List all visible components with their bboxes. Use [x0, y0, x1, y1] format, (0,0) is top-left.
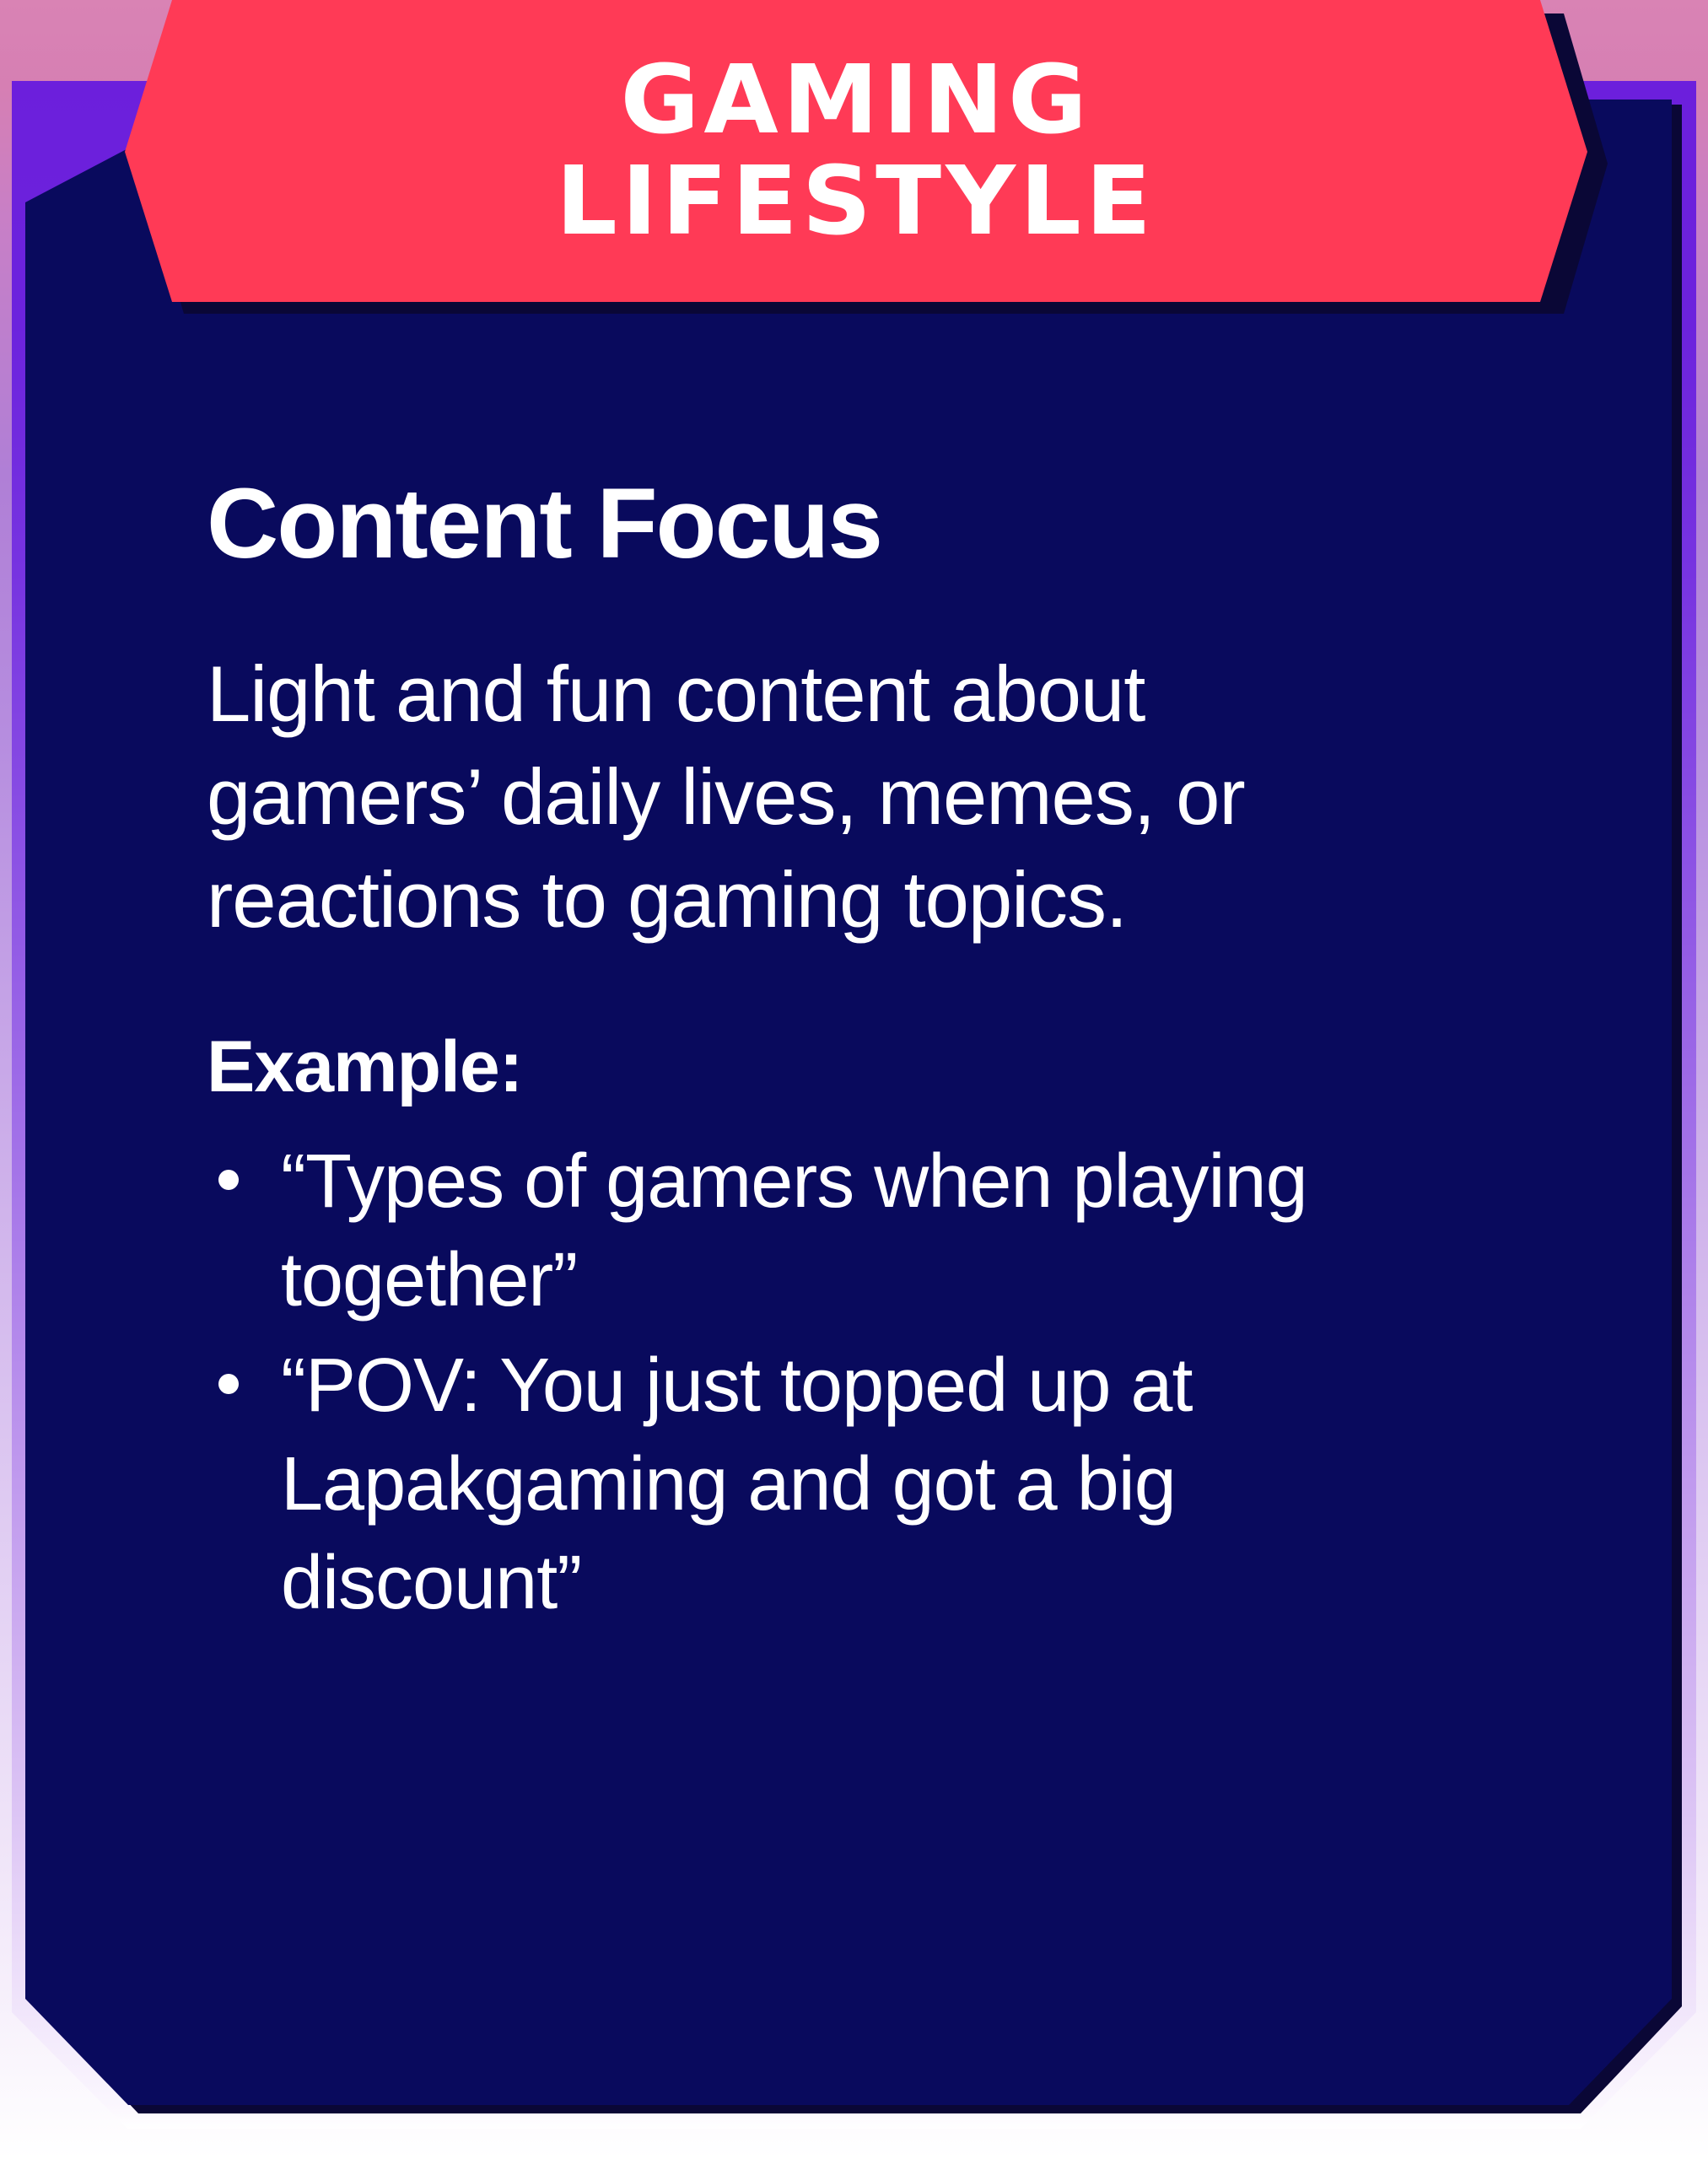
- slide-card: GAMING LIFESTYLE Content Focus Light and…: [0, 0, 1708, 2159]
- list-item: “POV: You just topped up at Lapakgaming …: [207, 1337, 1489, 1633]
- list-item: “Types of gamers when playing together”: [207, 1133, 1489, 1330]
- card-content: Content Focus Light and fun content abou…: [207, 472, 1489, 1639]
- page-title: Content Focus: [207, 472, 1489, 577]
- description-paragraph: Light and fun content about gamers’ dail…: [207, 643, 1404, 952]
- example-label: Example:: [207, 1027, 1489, 1107]
- example-list: “Types of gamers when playing together” …: [207, 1133, 1489, 1633]
- banner-title-line-1: GAMING: [621, 52, 1091, 148]
- banner-title-line-2: LIFESTYLE: [556, 153, 1156, 250]
- header-banner: GAMING LIFESTYLE: [125, 0, 1587, 302]
